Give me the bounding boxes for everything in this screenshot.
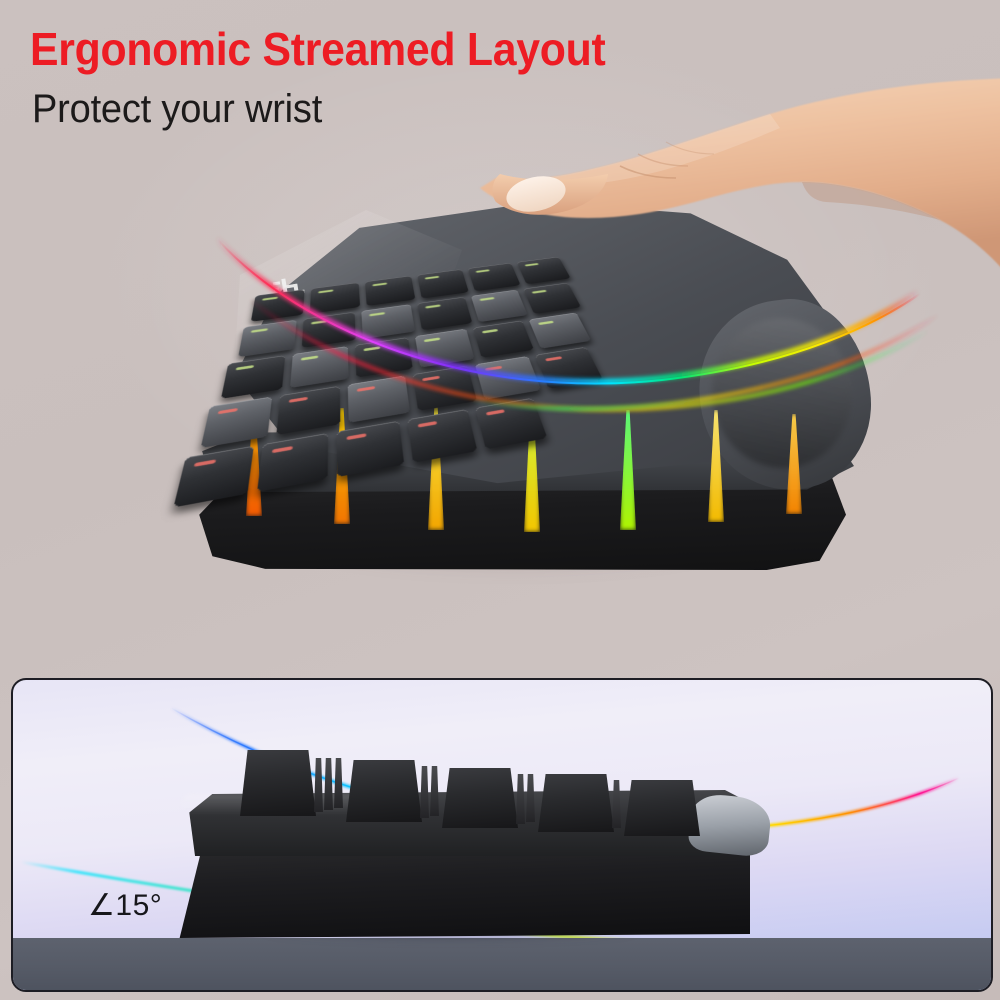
keycap[interactable]: [413, 366, 477, 411]
keycap-profile[interactable]: [442, 768, 518, 828]
keycap-profile-fin: [526, 774, 535, 822]
keycap-profile[interactable]: [538, 774, 614, 832]
keycap-profile[interactable]: [240, 750, 316, 816]
keycap[interactable]: [365, 276, 415, 306]
keycap[interactable]: [361, 304, 415, 339]
keycap-profile-fin: [516, 774, 525, 824]
side-profile-keycaps: [240, 752, 760, 822]
keycap-profile-fin: [420, 766, 429, 818]
keycap[interactable]: [251, 289, 305, 321]
keycap[interactable]: [417, 269, 469, 298]
keycap[interactable]: [276, 386, 340, 435]
keycap-profile-fin: [324, 758, 333, 810]
keycap-profile[interactable]: [624, 780, 700, 836]
keycap[interactable]: [201, 397, 272, 448]
hand-illustration: [470, 70, 1000, 370]
keycap-profile[interactable]: [346, 760, 422, 822]
keycap[interactable]: [337, 421, 405, 477]
hero-section: Ergonomic Streamed Layout Protect your w…: [0, 0, 1000, 680]
keycap[interactable]: [348, 376, 410, 423]
keycap-profile-fin: [612, 780, 621, 828]
keycap[interactable]: [290, 346, 349, 388]
keycap-profile-fin: [314, 758, 323, 812]
keycap[interactable]: [415, 329, 475, 368]
keycap[interactable]: [355, 337, 413, 377]
keycap[interactable]: [310, 282, 360, 313]
keycap[interactable]: [257, 433, 328, 492]
page-title: Ergonomic Streamed Layout: [30, 22, 605, 76]
keycap[interactable]: [221, 355, 285, 399]
page-subtitle: Protect your wrist: [32, 87, 322, 132]
keycap[interactable]: [475, 398, 547, 450]
angle-annotation: ∠15°: [88, 888, 162, 923]
keycap[interactable]: [238, 320, 296, 357]
keycap-profile-fin: [334, 758, 343, 808]
keycap[interactable]: [417, 297, 472, 331]
keycap-profile-fin: [430, 766, 439, 816]
keycap[interactable]: [302, 312, 356, 348]
keycap[interactable]: [173, 446, 253, 508]
product-infographic: Ergonomic Streamed Layout Protect your w…: [0, 0, 1000, 1000]
keycap[interactable]: [407, 409, 477, 463]
